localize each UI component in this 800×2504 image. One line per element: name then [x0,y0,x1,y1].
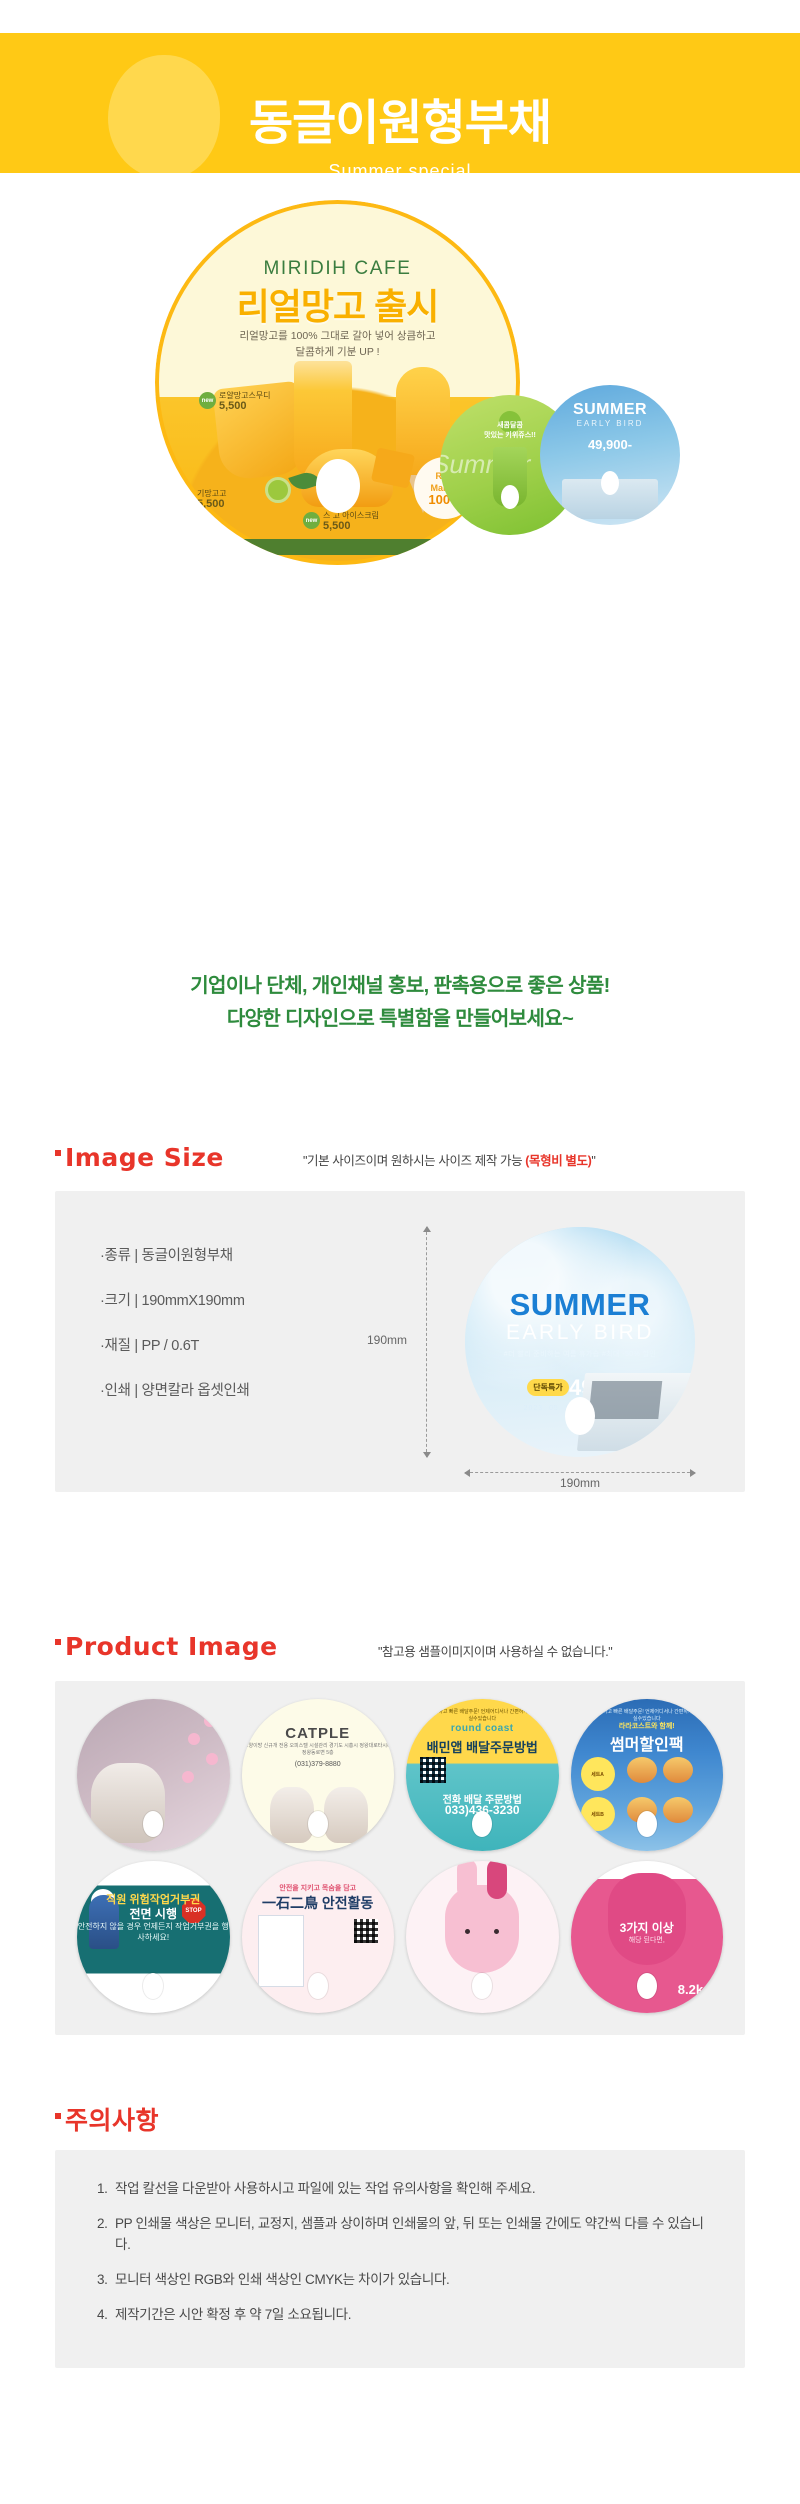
heading-bullet-icon [55,1639,61,1645]
safety-title-3: 안전하지 않을 경우 언제든지 작업거부권을 행사하세요! [77,1921,230,1943]
safety-title-2: 전면 시행 [77,1905,230,1922]
sample-fan-badge: 단독특가 [527,1379,569,1396]
notice-heading: 주의사항 [55,2101,159,2137]
fan-headline: 리얼망고 출시 [155,278,520,330]
notice-number: 1. [97,2178,115,2199]
sample-fan-rabbit-pink[interactable] [406,1861,559,2013]
fan-handle-punch-hole [143,1973,163,1999]
spec-list: ·종류 | 동글이원형부채 ·크기 | 190mmX190mm ·재질 | PP… [100,1247,250,1427]
price-tag-value: 5,500 [197,499,226,510]
notice-text: 모니터 색상인 RGB와 인쇄 색상인 CMYK는 차이가 있습니다. [115,2269,449,2290]
price-tag: 로얄망고스무디 5,500 [219,390,271,412]
notice-item: 4. 제작기간은 시안 확정 후 약 7일 소요됩니다. [97,2304,715,2325]
product-sample-grid: CATPLE 고양이방 신규개 전용 오피스텔 시설관리 경기도 시흥시 정왕대… [77,1699,723,2013]
price-tag-name: 로얄망고스무디 [219,391,271,400]
catple-phone: (031)379-8880 [242,1761,395,1768]
notice-panel: 1. 작업 칼선을 다운받아 사용하시고 파일에 있는 작업 유의사항을 확인해… [55,2150,745,2368]
info-card-illustration [258,1915,304,1987]
set-a-badge: 세트A [581,1757,615,1791]
width-dimension-arrow [465,1472,695,1473]
fan-handle-punch-hole [601,471,619,495]
size-sample-fan: SUMMER EARLY BIRD #더 빨리 준비하는 여름 휴가습 #최대 … [465,1227,695,1457]
price-tag-value: 5,500 [323,521,379,532]
rabbit-ear-right [487,1861,507,1899]
sample-fan-subtitle: EARLY BIRD [465,1321,695,1345]
discount-arc-text: ONLINE · 간편하고 빠른 배달주문! 언제어디서나 간편하게 배달을 주… [571,1708,724,1722]
notice-text: 작업 칼선을 다운받아 사용하시고 파일에 있는 작업 유의사항을 확인해 주세… [115,2178,535,2199]
cherry-blossom-icon [206,1753,218,1765]
rabbit-title: 3가지 이상 [571,1919,724,1936]
notice-text: 제작기간은 시안 확정 후 약 7일 소요됩니다. [115,2304,351,2325]
sample-fan-kitten-blossom[interactable] [77,1699,230,1851]
discount-title: 썸머할인팩 [571,1731,724,1755]
promo-line-1: 기업이나 단체, 개인채널 홍보, 판촉용으로 좋은 상품! [0,970,800,1003]
sample-fan-catple[interactable]: CATPLE 고양이방 신규개 전용 오피스텔 시설관리 경기도 시흥시 정왕대… [242,1699,395,1851]
image-size-note: "기본 사이즈이며 원하시는 사이즈 제작 가능 (목형비 별도)" [303,1150,595,1169]
kiwi-caption-line1: 새콤달콤 [497,422,523,429]
fan-handle-punch-hole [472,1973,492,1999]
image-size-heading: Image Size [55,1143,224,1172]
catple-brand-subtitle: 고양이방 신규개 전용 오피스텔 시설관리 경기도 시흥시 정왕대로타시나 정왕… [242,1743,395,1757]
cat-photo [270,1787,314,1843]
sample-fan-title: SUMMER [465,1287,695,1323]
rabbit-subtitle: 해당 된다면, [571,1935,724,1945]
food-photo [663,1757,693,1783]
rabbit-character-illustration [445,1885,519,1973]
fan-handle-punch-hole [316,459,360,513]
catple-brand-title: CATPLE [242,1725,395,1742]
spec-row: ·종류 | 동글이원형부채 [100,1247,250,1266]
delivery-title: 배민앱 배달주문방법 [406,1737,559,1756]
notice-list: 1. 작업 칼선을 다운받아 사용하시고 파일에 있는 작업 유의사항을 확인해… [97,2178,715,2339]
set-b-badge: 세트B [581,1797,615,1831]
cat-photo [324,1787,368,1843]
notice-item: 2. PP 인쇄물 색상은 모니터, 교정지, 샘플과 상이하며 인쇄물의 앞,… [97,2213,715,2255]
fan-handle-punch-hole [637,1811,657,1837]
fan-bottom-strip [192,539,484,555]
new-badge-icon: new [303,512,320,529]
spec-row: ·크기 | 190mmX190mm [100,1292,250,1311]
sample-fan-tagline: #더 빨리 준비하는 여름 휴가습 #최대 -50% 할인 [465,1349,695,1359]
page-subtitle: Summer special [0,159,800,173]
notice-number: 2. [97,2213,115,2255]
rabbit-eye-left [465,1929,470,1934]
qr-code-icon [354,1919,378,1943]
hero-product-photo: MIRIDIH CAFE 리얼망고 출시 리얼망고를 100% 그대로 갈아 넣… [0,195,800,625]
kiwi-caption-line2: 맛있는 키위쥬스!! [484,432,536,439]
food-photo [627,1757,657,1783]
image-size-heading-text: Image Size [65,1143,224,1172]
sample-fan-rabbit-magenta[interactable]: 3가지 이상 해당 된다면, 8.2kg [571,1861,724,2013]
cherry-blossom-icon [204,1715,216,1727]
qr-code-icon [420,1757,446,1783]
rabbit-weight-value: 8.2kg [678,1982,711,1997]
fan-brand-label: MIRIDIH CAFE [155,258,520,280]
notice-heading-text: 주의사항 [65,2101,159,2137]
price-tag-name: 스 고 아이스크림 [323,511,379,520]
new-badge-icon: new [177,490,194,507]
sample-fan-safety-activity[interactable]: 안전을 지키고 목숨을 담고 一石二鳥 안전활동 [242,1861,395,2013]
fan-handle-punch-hole [637,1973,657,1999]
product-image-note: "참고용 샘플이미지이며 사용하실 수 없습니다." [378,1641,612,1660]
cherry-blossom-icon [182,1771,194,1783]
spec-row: ·인쇄 | 양면칼라 옵셋인쇄 [100,1382,250,1401]
fan-handle-punch-hole [308,1811,328,1837]
spec-row: ·재질 | PP / 0.6T [100,1337,250,1356]
height-dimension-arrow [426,1227,427,1457]
summer-fan-subtitle: EARLY BIRD [540,419,680,428]
fan-description-line1: 리얼망고를 100% 그대로 갈아 넣어 상큼하고 [239,330,435,342]
height-dimension-label: 190mm [367,1333,407,1347]
fan-handle-punch-hole [472,1811,492,1837]
notice-item: 1. 작업 칼선을 다운받아 사용하시고 파일에 있는 작업 유의사항을 확인해… [97,2178,715,2199]
hero-fan-summer: SUMMER EARLY BIRD 49,900- [540,385,680,525]
kiwi-slice-icon [265,477,291,503]
sample-fan-safety-refusal[interactable]: STOP 직원 위험작업거부권 전면 시행 안전하지 않을 경우 언제든지 작업… [77,1861,230,2013]
product-image-heading: Product Image [55,1632,278,1661]
heading-bullet-icon [55,2113,61,2119]
summer-fan-title: SUMMER [540,401,680,419]
notice-number: 3. [97,2269,115,2290]
price-tag-name: 기망고고 [197,489,226,498]
sample-fan-delivery-guide[interactable]: ONLINE · 간편하고 빠른 배달주문! 언제어디서나 간편하게 배달을 주… [406,1699,559,1851]
activity-title: 一石二鳥 안전활동 [242,1893,395,1913]
price-tag: 스 고 아이스크림 5,500 [323,510,379,532]
fan-handle-punch-hole [143,1811,163,1837]
food-photo [663,1797,693,1823]
promo-line-2: 다양한 디자인으로 특별함을 만들어보세요~ [0,1003,800,1036]
activity-top-text: 안전을 지키고 목숨을 담고 [242,1883,395,1893]
rabbit-eye-right [494,1929,499,1934]
product-image-panel: CATPLE 고양이방 신규개 전용 오피스텔 시설관리 경기도 시흥시 정왕대… [55,1681,745,2035]
summer-fan-price: 49,900- [540,437,680,452]
delivery-arc-text: ONLINE · 간편하고 빠른 배달주문! 언제어디서나 간편하게 배달을 주… [406,1708,559,1722]
cherry-blossom-icon [188,1733,200,1745]
price-tag-value: 5,500 [219,401,271,412]
promo-copy: 기업이나 단체, 개인채널 홍보, 판촉용으로 좋은 상품! 다양한 디자인으로… [0,970,800,1036]
page-title: 동글이원형부채 [0,97,800,151]
notice-item: 3. 모니터 색상인 RGB와 인쇄 색상인 CMYK는 차이가 있습니다. [97,2269,715,2290]
delivery-logo-text: round coast [406,1723,559,1734]
fan-handle-punch-hole [565,1397,595,1435]
heading-bullet-icon [55,1150,61,1156]
fan-handle-punch-hole [308,1973,328,1999]
discount-top-text: 라라코스트와 함께! [571,1721,724,1731]
product-image-heading-text: Product Image [65,1632,278,1661]
width-dimension-label: 190mm [465,1476,695,1490]
note-prefix: "기본 사이즈이며 원하시는 사이즈 제작 가능 [303,1154,525,1168]
image-size-panel: ·종류 | 동글이원형부채 ·크기 | 190mmX190mm ·재질 | PP… [55,1191,745,1492]
note-suffix: " [591,1154,595,1168]
new-badge-icon: new [199,392,216,409]
rabbit-ear-left [457,1861,477,1899]
fan-handle-punch-hole [501,485,519,509]
notice-number: 4. [97,2304,115,2325]
notice-text: PP 인쇄물 색상은 모니터, 교정지, 샘플과 상이하며 인쇄물의 앞, 뒤 … [115,2213,715,2255]
page-header-banner: 동글이원형부채 Summer special [0,33,800,173]
sample-fan-summer-discount[interactable]: ONLINE · 간편하고 빠른 배달주문! 언제어디서나 간편하게 배달을 주… [571,1699,724,1851]
note-highlight: (목형비 별도) [525,1154,591,1168]
price-tag: 기망고고 5,500 [197,488,226,510]
